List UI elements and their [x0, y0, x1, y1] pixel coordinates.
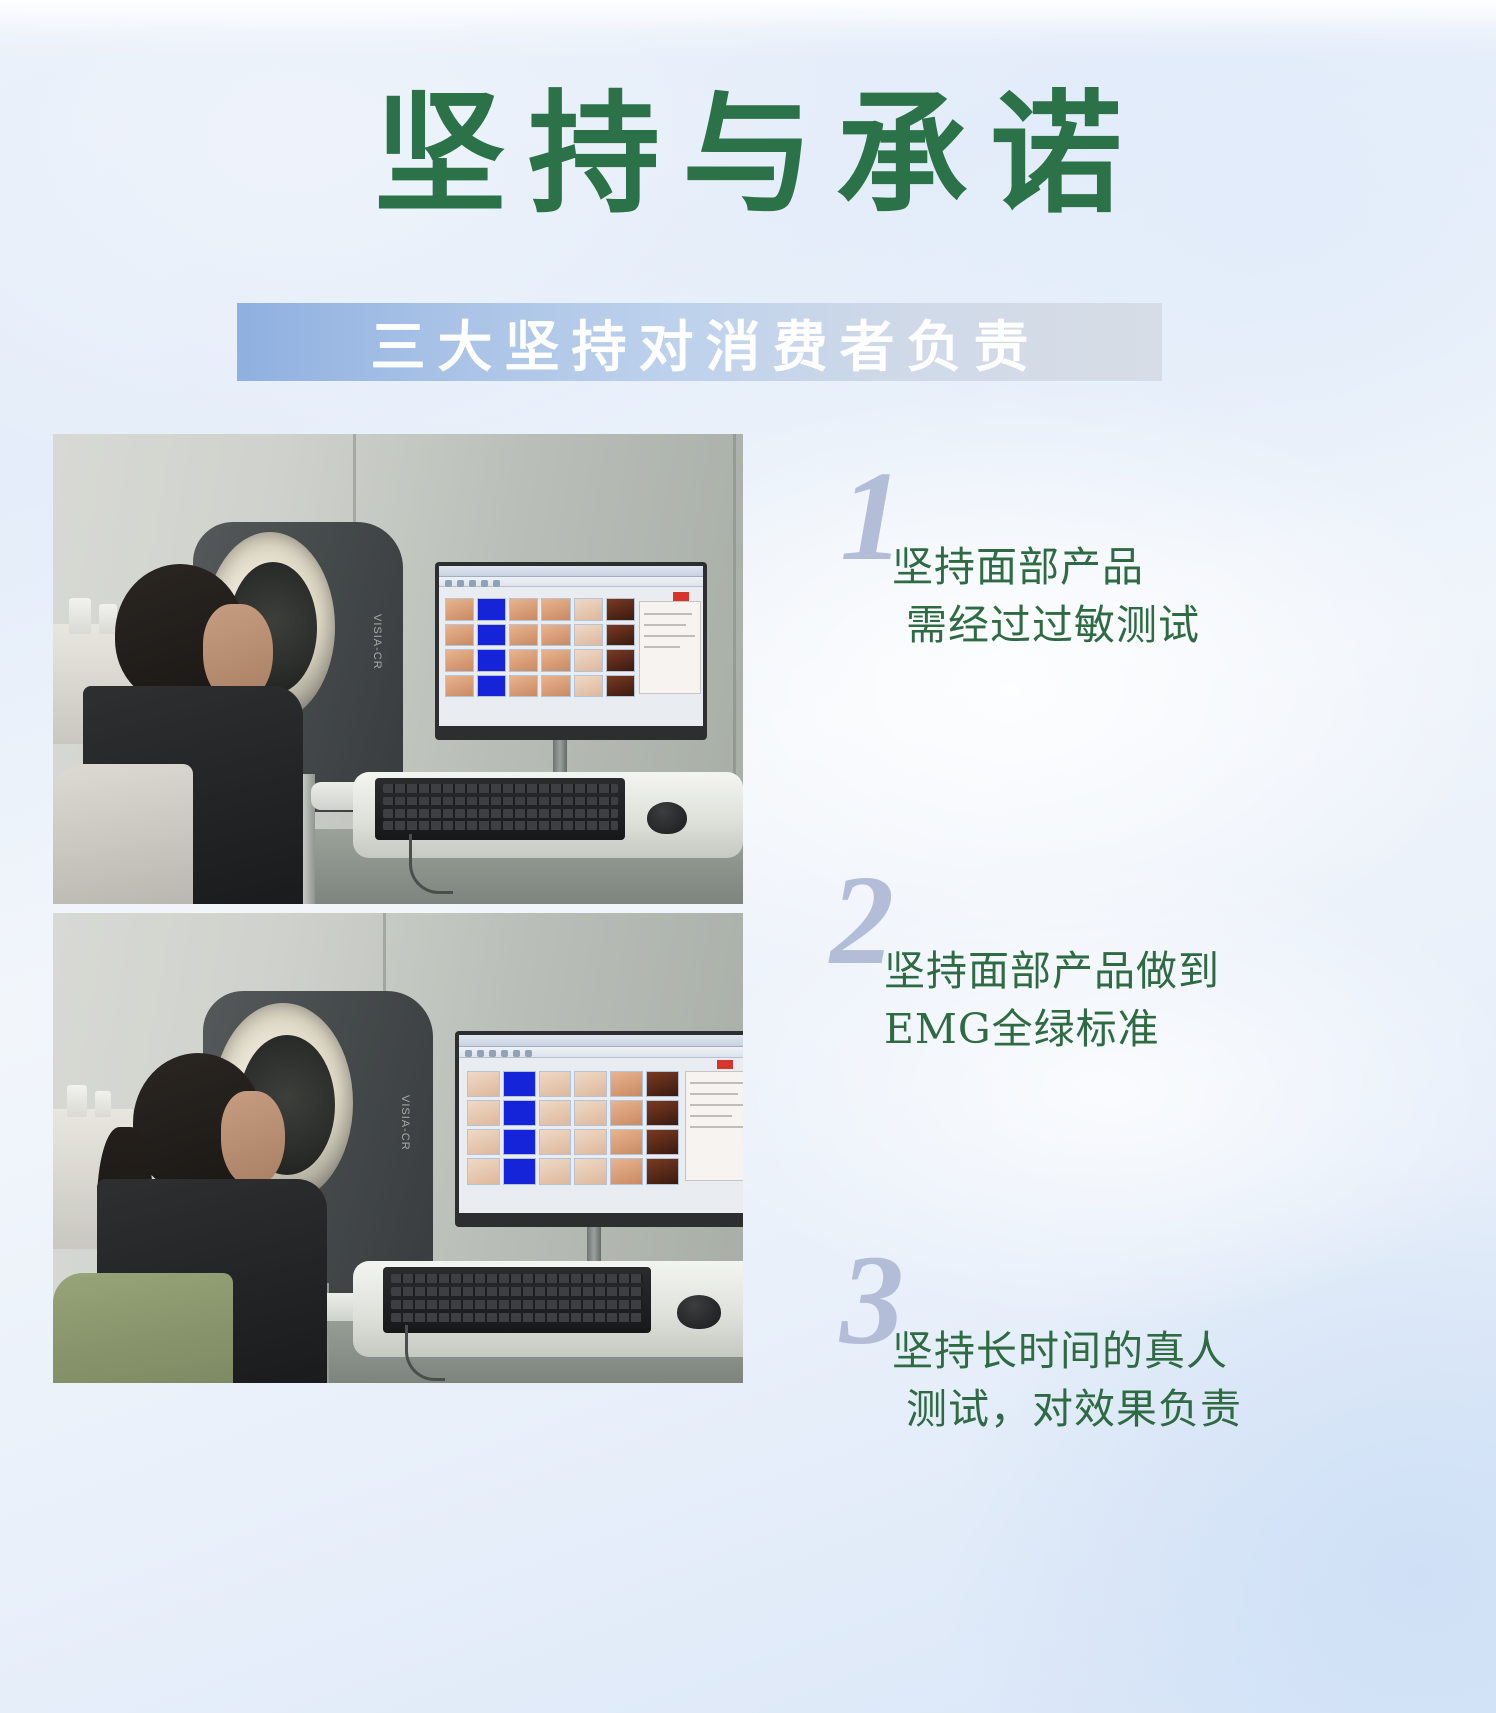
poster-background: 坚持与承诺 三大坚持对消费者负责 VISIA-CR [0, 0, 1496, 1713]
software-side-panel [685, 1071, 743, 1181]
commitment-item-1: 1 坚持面部产品 需经过过敏测试 [840, 452, 1310, 622]
mouse [677, 1295, 721, 1329]
top-light-wash [0, 0, 1496, 60]
face-thumbnail-grid [467, 1071, 679, 1185]
monitor-screen [459, 1035, 743, 1213]
monitor [455, 1031, 743, 1227]
item-1-line-2: 需经过过敏测试 [892, 596, 1200, 654]
analyzer-brand-label: VISIA-CR [399, 1095, 411, 1151]
item-2-line-1: 坚持面部产品做到 [884, 947, 1220, 995]
item-1-line-1: 坚持面部产品 [892, 543, 1144, 591]
commitment-item-3: 3 坚持长时间的真人 测试，对效果负责 [840, 1236, 1310, 1436]
face-thumbnail-grid [445, 598, 635, 697]
commitment-item-2: 2 坚持面部产品做到 EMG全绿标准 [830, 856, 1300, 1056]
software-side-panel [639, 601, 701, 694]
bottle [67, 1085, 87, 1117]
software-titlebar [459, 1035, 743, 1047]
item-3-text: 坚持长时间的真人 测试，对效果负责 [892, 1322, 1242, 1438]
monitor-screen [439, 566, 703, 726]
bottle [95, 1091, 111, 1117]
item-2-line-2: EMG全绿标准 [884, 1000, 1220, 1058]
software-titlebar [439, 566, 703, 577]
item-1-text: 坚持面部产品 需经过过敏测试 [892, 538, 1200, 654]
software-toolbar [439, 577, 703, 587]
subtitle-banner: 三大坚持对消费者负责 [237, 303, 1162, 381]
subject-face [221, 1091, 285, 1187]
status-badge [673, 592, 689, 601]
bottle [69, 598, 91, 634]
page-title: 坚持与承诺 [0, 84, 1496, 227]
analyzer-brand-label: VISIA-CR [371, 614, 383, 670]
item-3-line-2: 测试，对效果负责 [892, 1380, 1242, 1438]
keyboard [375, 778, 625, 840]
mouse [647, 802, 687, 834]
subtitle-text: 三大坚持对消费者负责 [358, 302, 1040, 382]
photo-skin-analysis-female: VISIA-CR [53, 913, 743, 1383]
photo-scene: VISIA-CR [53, 913, 743, 1383]
item-2-text: 坚持面部产品做到 EMG全绿标准 [884, 942, 1220, 1058]
monitor [435, 562, 707, 740]
photo-scene: VISIA-CR [53, 434, 743, 904]
software-toolbar [459, 1047, 743, 1058]
status-badge [717, 1060, 733, 1069]
photo-skin-analysis-male: VISIA-CR [53, 434, 743, 904]
subject-shoulder [53, 764, 193, 904]
keyboard [383, 1267, 651, 1333]
subject-shoulder [53, 1273, 233, 1383]
item-3-line-1: 坚持长时间的真人 [892, 1327, 1228, 1375]
